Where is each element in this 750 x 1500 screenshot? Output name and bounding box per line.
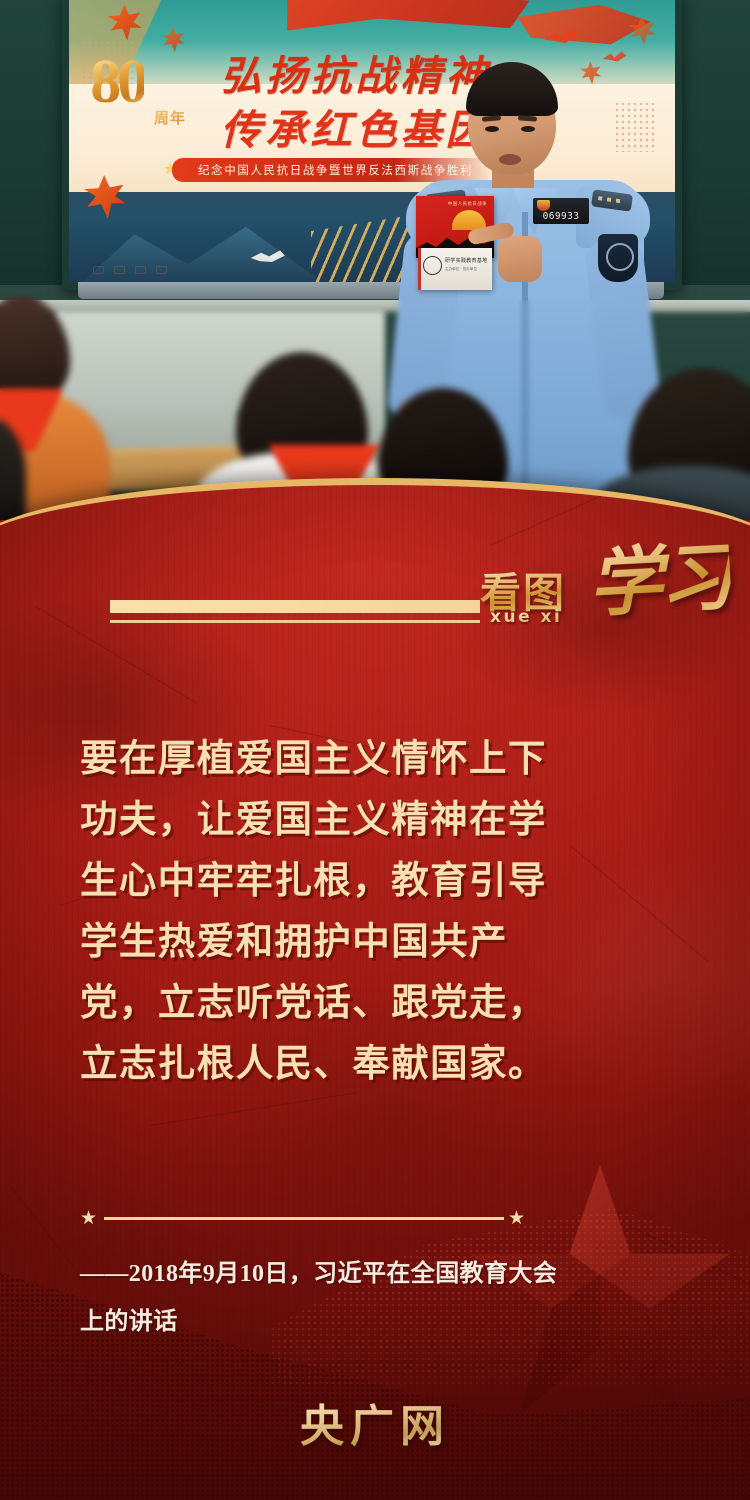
attribution-block: ★ ★ ——2018年9月10日，习近平在全国教育大会上的讲话 <box>80 1208 550 1346</box>
officer-arm-patch <box>598 234 638 282</box>
quote-block: 要在厚植爱国主义情怀上下 功夫，让爱国主义精神在学 生心中牢牢扎根，教育引导 学… <box>80 728 570 1094</box>
book-seal-icon <box>423 256 442 275</box>
banner-dot-pattern-right <box>614 101 656 152</box>
poster-root: 80 周年 弘扬抗战精神 传承红色基因 ★ 纪念中国人民抗日战争暨世界反法西斯战… <box>0 0 750 1500</box>
smartboard-controls <box>93 266 167 274</box>
held-book-red-title: 中国人民抗日战争 <box>448 201 487 207</box>
footer: 央广网 <box>0 1390 750 1454</box>
attribution-rule-line <box>104 1217 504 1220</box>
anniversary-number: 80 <box>90 56 144 109</box>
anniversary-unit: 周年 <box>154 107 186 128</box>
board-control-icon <box>93 266 104 274</box>
board-control-icon <box>156 266 167 274</box>
officer-eye-left <box>485 126 499 132</box>
officer-badge: 069933 <box>533 198 589 224</box>
logo-pinyin-text: xue xi <box>490 607 562 627</box>
logo-xuexi-script: 学习 <box>585 517 732 631</box>
book-spine <box>418 248 421 290</box>
board-control-icon <box>135 266 146 274</box>
held-book-white: 研学实践教育基地 主办单位 · 协办单位 <box>418 248 492 290</box>
officer-eye-right <box>521 126 535 132</box>
officer-hand-right <box>498 236 542 282</box>
attribution-rule: ★ ★ <box>80 1208 550 1230</box>
held-book-white-sub: 主办单位 · 协办单位 <box>445 267 477 272</box>
held-book-white-title: 研学实践教育基地 <box>445 257 487 264</box>
banner-title-line-2: 传承红色基因 <box>221 96 491 156</box>
star-icon-right: ★ <box>508 1209 525 1228</box>
gold-divider-thin <box>110 620 480 623</box>
banner-subtitle: 纪念中国人民抗日战争暨世界反法西斯战争胜利 <box>172 158 491 182</box>
quote-line: 功夫，让爱国主义精神在学 <box>80 789 570 850</box>
attribution-text: ——2018年9月10日，习近平在全国教育大会上的讲话 <box>80 1250 566 1346</box>
board-control-icon <box>114 266 125 274</box>
quote-line: 学生热爱和拥护中国共产 <box>80 911 570 972</box>
cnr-brand-mark: 央广网 <box>300 1390 450 1454</box>
badge-emblem-icon <box>537 200 550 211</box>
classroom-lecture-photo: 80 周年 弘扬抗战精神 传承红色基因 ★ 纪念中国人民抗日战争暨世界反法西斯战… <box>0 0 750 520</box>
gold-divider-thick <box>110 600 480 613</box>
quote-line: 党，立志听党话、跟党走， <box>80 972 570 1033</box>
quote-line: 生心中牢牢扎根，教育引导 <box>80 850 570 911</box>
kantu-xuexi-logo: 看图 xue xi 学习 <box>480 535 730 640</box>
quote-line: 要在厚植爱国主义情怀上下 <box>80 728 570 789</box>
quote-line: 立志扎根人民、奉献国家。 <box>80 1033 570 1094</box>
banner-title-line-1: 弘扬抗战精神 <box>221 42 491 102</box>
officer-mouth <box>499 154 521 165</box>
officer-badge-number: 069933 <box>543 211 580 222</box>
gold-divider <box>110 600 480 623</box>
star-icon-left: ★ <box>80 1209 97 1228</box>
